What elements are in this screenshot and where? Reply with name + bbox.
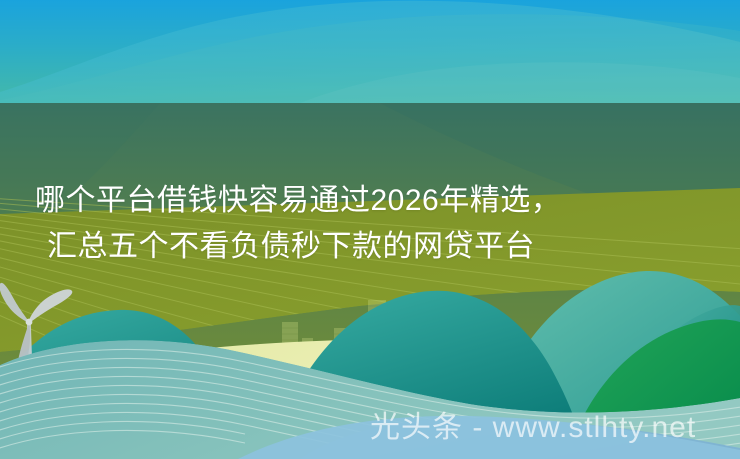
cover-banner: 哪个平台借钱快容易通过2026年精选， 汇总五个不看负债秒下款的网贷平台 光头条…: [0, 0, 740, 459]
sky-region: [0, 0, 740, 103]
hillside-region: [0, 103, 740, 459]
landscape-artwork: [0, 0, 740, 459]
